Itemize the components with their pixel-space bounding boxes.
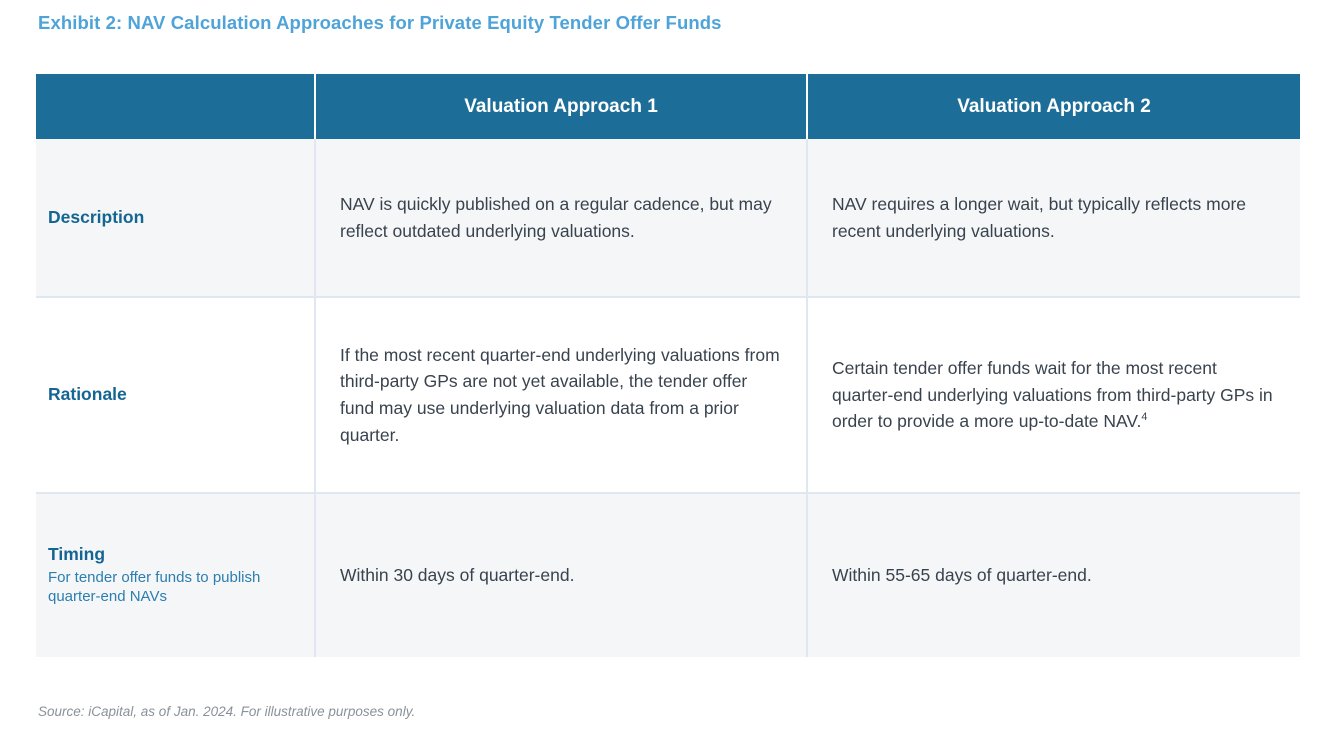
source-note: Source: iCapital, as of Jan. 2024. For i… [38, 704, 415, 719]
nav-comparison-table: Valuation Approach 1 Valuation Approach … [36, 74, 1300, 657]
table-header-row: Valuation Approach 1 Valuation Approach … [36, 74, 1300, 139]
cell-rationale-approach-2-text: Certain tender offer funds wait for the … [832, 358, 1273, 431]
table-row: Timing For tender offer funds to publish… [36, 493, 1300, 657]
row-label-title: Rationale [48, 384, 298, 406]
footnote-marker: 4 [1141, 411, 1147, 423]
cell-timing-approach-1: Within 30 days of quarter-end. [315, 493, 807, 657]
row-label-rationale: Rationale [36, 297, 315, 493]
cell-rationale-approach-1: If the most recent quarter-end underlyin… [315, 297, 807, 493]
column-header-label [36, 74, 315, 139]
row-label-timing: Timing For tender offer funds to publish… [36, 493, 315, 657]
column-header-approach-1: Valuation Approach 1 [315, 74, 807, 139]
table-body: Description NAV is quickly published on … [36, 139, 1300, 657]
cell-description-approach-2: NAV requires a longer wait, but typicall… [807, 139, 1300, 297]
row-label-subtitle: For tender offer funds to publish quarte… [48, 568, 298, 607]
row-label-description: Description [36, 139, 315, 297]
cell-timing-approach-2: Within 55-65 days of quarter-end. [807, 493, 1300, 657]
cell-description-approach-1: NAV is quickly published on a regular ca… [315, 139, 807, 297]
row-label-title: Description [48, 207, 298, 229]
page-title: Exhibit 2: NAV Calculation Approaches fo… [38, 12, 722, 34]
column-header-approach-2: Valuation Approach 2 [807, 74, 1300, 139]
cell-rationale-approach-2: Certain tender offer funds wait for the … [807, 297, 1300, 493]
table-row: Rationale If the most recent quarter-end… [36, 297, 1300, 493]
exhibit-page: Exhibit 2: NAV Calculation Approaches fo… [0, 0, 1336, 736]
table-row: Description NAV is quickly published on … [36, 139, 1300, 297]
nav-comparison-table-container: Valuation Approach 1 Valuation Approach … [36, 74, 1300, 657]
row-label-title: Timing [48, 544, 298, 566]
table-header: Valuation Approach 1 Valuation Approach … [36, 74, 1300, 139]
